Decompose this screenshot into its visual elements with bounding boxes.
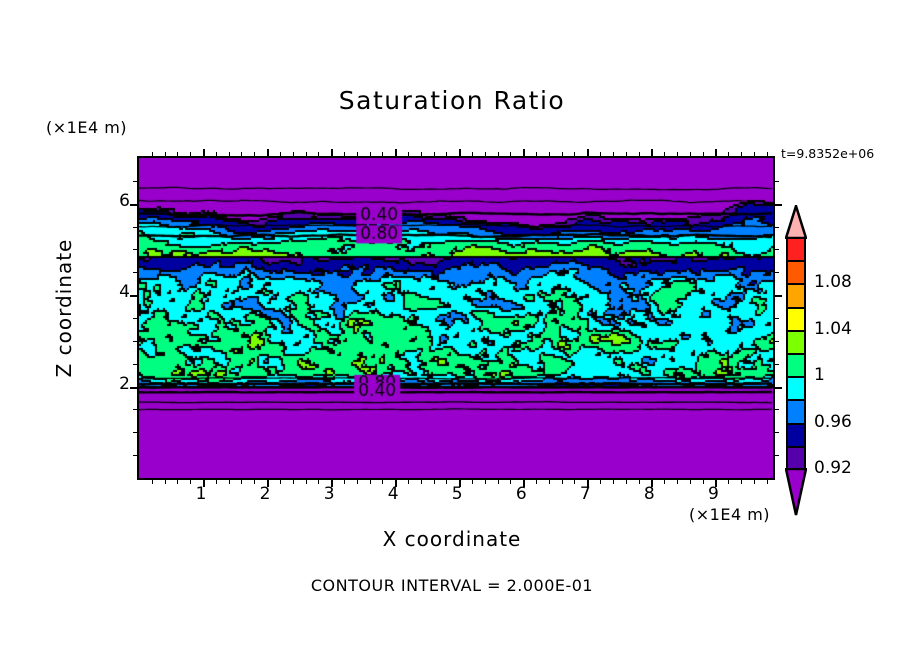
axis-tick	[293, 478, 294, 484]
axis-tick	[152, 152, 153, 158]
y-axis-units-label: (×1E4 m)	[46, 118, 127, 137]
axis-tick	[133, 341, 139, 342]
axis-tick	[133, 318, 139, 319]
chart-title: Saturation Ratio	[0, 86, 904, 115]
axis-tick	[498, 478, 499, 484]
axis-tick	[728, 152, 729, 158]
x-tick-label: 8	[629, 484, 669, 504]
saturation-field-canvas	[139, 158, 773, 478]
colorbar-band	[786, 307, 806, 332]
axis-tick	[370, 478, 371, 484]
axis-tick	[773, 387, 782, 389]
axis-tick	[133, 364, 139, 365]
x-tick-label: 3	[309, 484, 349, 504]
axis-tick	[344, 152, 345, 158]
axis-tick	[133, 249, 139, 250]
axis-tick	[741, 478, 742, 484]
axis-tick	[690, 478, 691, 484]
axis-tick	[357, 152, 358, 158]
axis-tick	[549, 478, 550, 484]
x-tick-label: 5	[437, 484, 477, 504]
axis-tick	[382, 152, 383, 158]
contour-interval-caption: CONTOUR INTERVAL = 2.000E-01	[0, 576, 904, 595]
axis-tick	[446, 152, 447, 158]
axis-tick	[229, 152, 230, 158]
x-tick-label: 9	[693, 484, 733, 504]
axis-tick	[510, 152, 511, 158]
axis-tick	[741, 152, 742, 158]
axis-tick	[203, 149, 205, 158]
colorbar-band	[786, 423, 806, 448]
axis-tick	[293, 152, 294, 158]
x-axis-units-label: (×1E4 m)	[689, 505, 770, 524]
colorbar-band	[786, 399, 806, 424]
axis-tick	[357, 478, 358, 484]
axis-tick	[536, 152, 537, 158]
axis-tick	[773, 204, 782, 206]
axis-tick	[773, 181, 779, 182]
contour-plot-area	[137, 156, 775, 480]
axis-tick	[133, 272, 139, 273]
axis-tick	[485, 478, 486, 484]
axis-tick	[177, 478, 178, 484]
x-tick-label: 6	[501, 484, 541, 504]
axis-tick	[306, 152, 307, 158]
axis-tick	[754, 152, 755, 158]
axis-tick	[773, 364, 779, 365]
axis-tick	[267, 149, 269, 158]
axis-tick	[370, 152, 371, 158]
axis-tick	[574, 152, 575, 158]
axis-tick	[715, 149, 717, 158]
axis-tick	[241, 152, 242, 158]
y-tick-label: 4	[108, 282, 130, 302]
axis-tick	[434, 152, 435, 158]
axis-tick	[626, 152, 627, 158]
axis-tick	[459, 149, 461, 158]
axis-tick	[773, 295, 782, 297]
axis-tick	[421, 478, 422, 484]
axis-tick	[773, 455, 779, 456]
axis-tick	[773, 432, 779, 433]
axis-tick	[773, 341, 779, 342]
x-tick-label: 4	[373, 484, 413, 504]
axis-tick	[773, 249, 779, 250]
colorbar-band	[786, 260, 806, 285]
axis-tick	[130, 204, 139, 206]
axis-tick	[190, 152, 191, 158]
y-axis-title: Z coordinate	[52, 218, 76, 398]
axis-tick	[639, 152, 640, 158]
colorbar-tick-label: 1.04	[814, 319, 852, 339]
axis-tick	[613, 152, 614, 158]
x-tick-label: 2	[245, 484, 285, 504]
axis-tick	[562, 478, 563, 484]
axis-tick	[331, 149, 333, 158]
axis-tick	[165, 478, 166, 484]
axis-tick	[626, 478, 627, 484]
colorbar-band	[786, 353, 806, 378]
axis-tick	[664, 152, 665, 158]
axis-tick	[133, 432, 139, 433]
axis-tick	[130, 295, 139, 297]
axis-tick	[613, 478, 614, 484]
axis-tick	[421, 152, 422, 158]
axis-tick	[229, 478, 230, 484]
x-tick-label: 1	[181, 484, 221, 504]
axis-tick	[130, 387, 139, 389]
axis-tick	[600, 152, 601, 158]
y-tick-label: 2	[108, 374, 130, 394]
axis-tick	[677, 152, 678, 158]
figure-root: Saturation Ratio (×1E4 m) t=9.8352e+06 Z…	[0, 0, 904, 654]
axis-tick	[177, 152, 178, 158]
axis-tick	[241, 478, 242, 484]
axis-tick	[773, 409, 779, 410]
axis-tick	[485, 152, 486, 158]
axis-tick	[408, 152, 409, 158]
axis-tick	[754, 478, 755, 484]
axis-tick	[549, 152, 550, 158]
time-annotation: t=9.8352e+06	[781, 146, 874, 161]
axis-tick	[523, 149, 525, 158]
axis-tick	[152, 478, 153, 484]
axis-tick	[280, 152, 281, 158]
colorbar	[786, 237, 806, 469]
axis-tick	[318, 152, 319, 158]
axis-tick	[306, 478, 307, 484]
axis-tick	[773, 227, 779, 228]
axis-tick	[703, 152, 704, 158]
axis-tick	[773, 272, 779, 273]
axis-tick	[767, 478, 768, 484]
axis-tick	[562, 152, 563, 158]
axis-tick	[133, 409, 139, 410]
axis-tick	[216, 152, 217, 158]
colorbar-tick-label: 1	[814, 365, 825, 385]
y-tick-label: 6	[108, 191, 130, 211]
colorbar-band	[786, 376, 806, 401]
axis-tick	[254, 152, 255, 158]
colorbar-band	[786, 283, 806, 308]
axis-tick	[587, 149, 589, 158]
axis-tick	[165, 152, 166, 158]
colorbar-tick-label: 0.96	[814, 412, 852, 432]
colorbar-band	[786, 330, 806, 355]
axis-tick	[651, 149, 653, 158]
axis-tick	[773, 318, 779, 319]
axis-tick	[690, 152, 691, 158]
x-axis-title: X coordinate	[0, 527, 904, 551]
axis-tick	[133, 181, 139, 182]
colorbar-tick-label: 1.08	[814, 272, 852, 292]
axis-tick	[498, 152, 499, 158]
colorbar-over-arrow	[785, 205, 807, 239]
axis-tick	[434, 478, 435, 484]
axis-tick	[133, 455, 139, 456]
colorbar-band	[786, 237, 806, 262]
axis-tick	[767, 152, 768, 158]
x-tick-label: 7	[565, 484, 605, 504]
axis-tick	[395, 149, 397, 158]
colorbar-tick-label: 0.92	[814, 458, 852, 478]
axis-tick	[472, 152, 473, 158]
colorbar-under-arrow	[785, 468, 807, 516]
axis-tick	[677, 478, 678, 484]
axis-tick	[133, 227, 139, 228]
